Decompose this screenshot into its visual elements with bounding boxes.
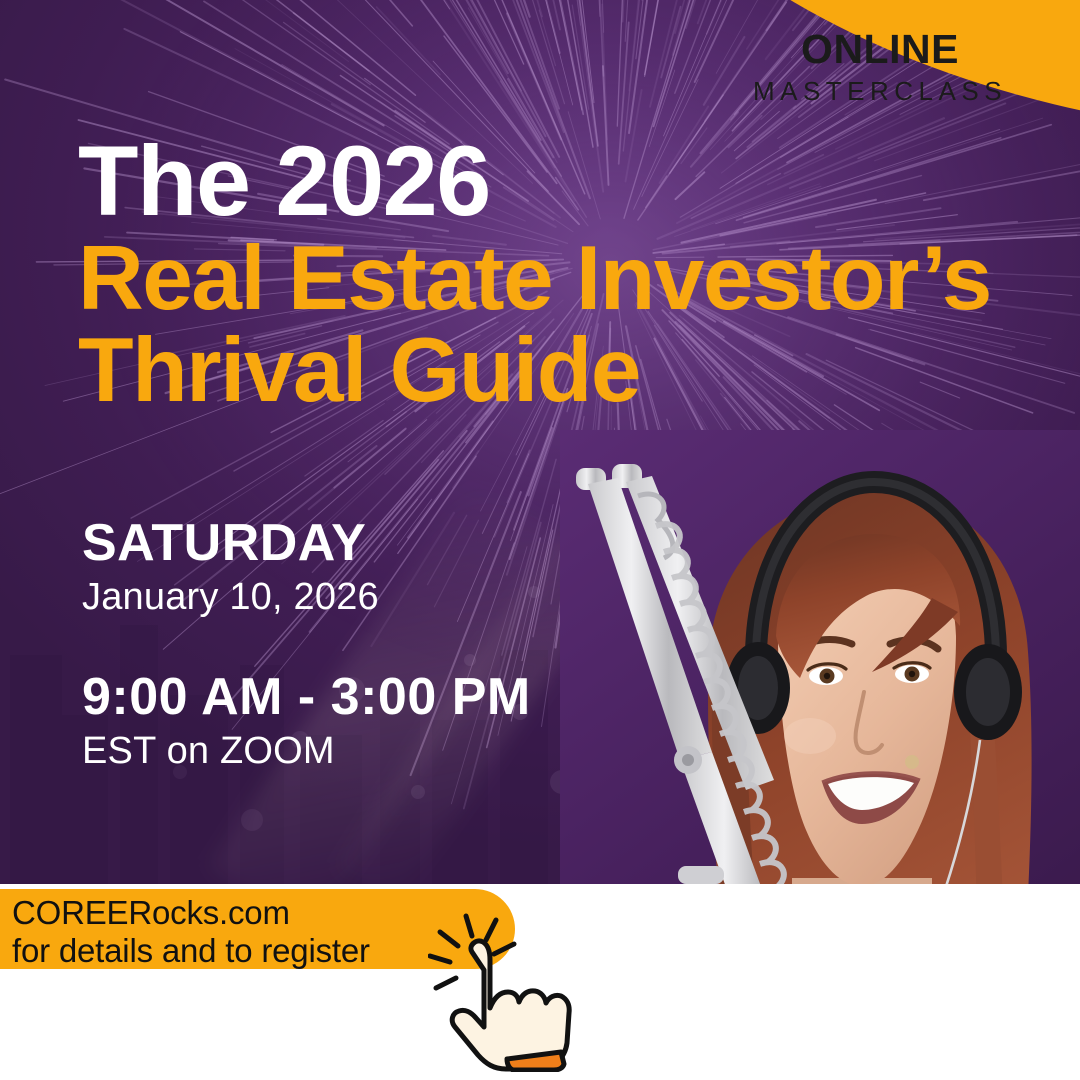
headline-line-2: Real Estate Investor’s [78, 234, 1038, 323]
cta-website-url[interactable]: COREERocks.com [12, 894, 370, 932]
cta-text-group[interactable]: COREERocks.com for details and to regist… [12, 894, 370, 971]
poster-canvas: ONLINE MASTERCLASS The 2026 Real Estate … [0, 0, 1080, 1080]
cta-subtext: for details and to register [12, 932, 370, 970]
headline-line-1: The 2026 [78, 132, 1038, 229]
event-platform: EST on ZOOM [82, 730, 531, 773]
badge-online-label: ONLINE [690, 28, 1070, 71]
headline-line-3: Thrival Guide [78, 326, 1038, 415]
badge-text-group: ONLINE MASTERCLASS [690, 28, 1070, 107]
page-title: The 2026 Real Estate Investor’s Thrival … [78, 132, 1038, 415]
event-details: SATURDAY January 10, 2026 9:00 AM - 3:00… [82, 517, 531, 773]
event-day: SATURDAY [82, 517, 531, 570]
badge-masterclass-label: MASTERCLASS [690, 76, 1070, 107]
event-date: January 10, 2026 [82, 576, 531, 619]
event-time: 9:00 AM - 3:00 PM [82, 671, 531, 724]
pointing-hand-click-icon [428, 912, 578, 1072]
